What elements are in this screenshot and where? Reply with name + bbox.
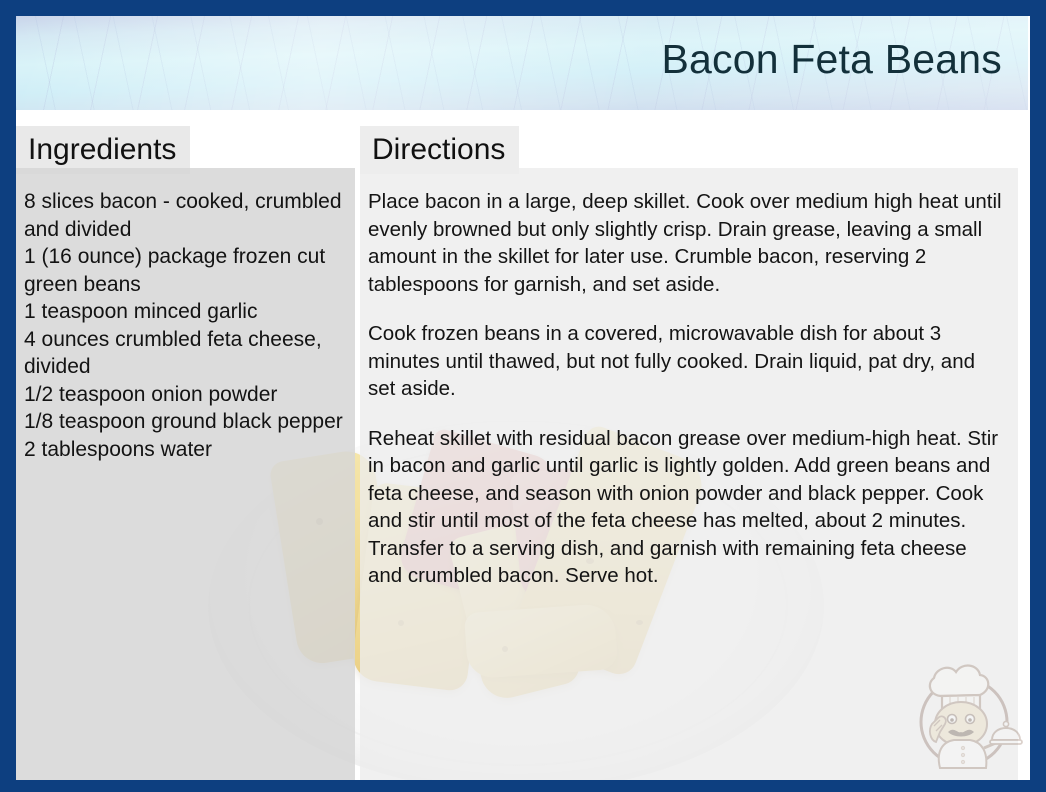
recipe-card: Bacon Feta Beans Ingredients 8 slices ba… (0, 0, 1046, 792)
directions-panel: Place bacon in a large, deep skillet. Co… (360, 168, 1018, 782)
list-item: 1/2 teaspoon onion powder (24, 381, 347, 409)
page-title: Bacon Feta Beans (661, 34, 1002, 84)
direction-step: Cook frozen beans in a covered, microwav… (368, 320, 1006, 403)
list-item: 1 teaspoon minced garlic (24, 298, 347, 326)
list-item: 1 (16 ounce) package frozen cut green be… (24, 243, 347, 298)
direction-step: Place bacon in a large, deep skillet. Co… (368, 188, 1006, 298)
tab-ingredients[interactable]: Ingredients (16, 126, 190, 174)
list-item: 1/8 teaspoon ground black pepper (24, 408, 347, 436)
tab-directions[interactable]: Directions (360, 126, 519, 174)
list-item: 4 ounces crumbled feta cheese, divided (24, 326, 347, 381)
list-item: 8 slices bacon - cooked, crumbled and di… (24, 188, 347, 243)
title-banner: Bacon Feta Beans (16, 16, 1028, 110)
ingredients-panel: 8 slices bacon - cooked, crumbled and di… (16, 168, 355, 782)
list-item: 2 tablespoons water (24, 436, 347, 464)
direction-step: Reheat skillet with residual bacon greas… (368, 425, 1006, 590)
ingredients-list: 8 slices bacon - cooked, crumbled and di… (24, 188, 347, 463)
